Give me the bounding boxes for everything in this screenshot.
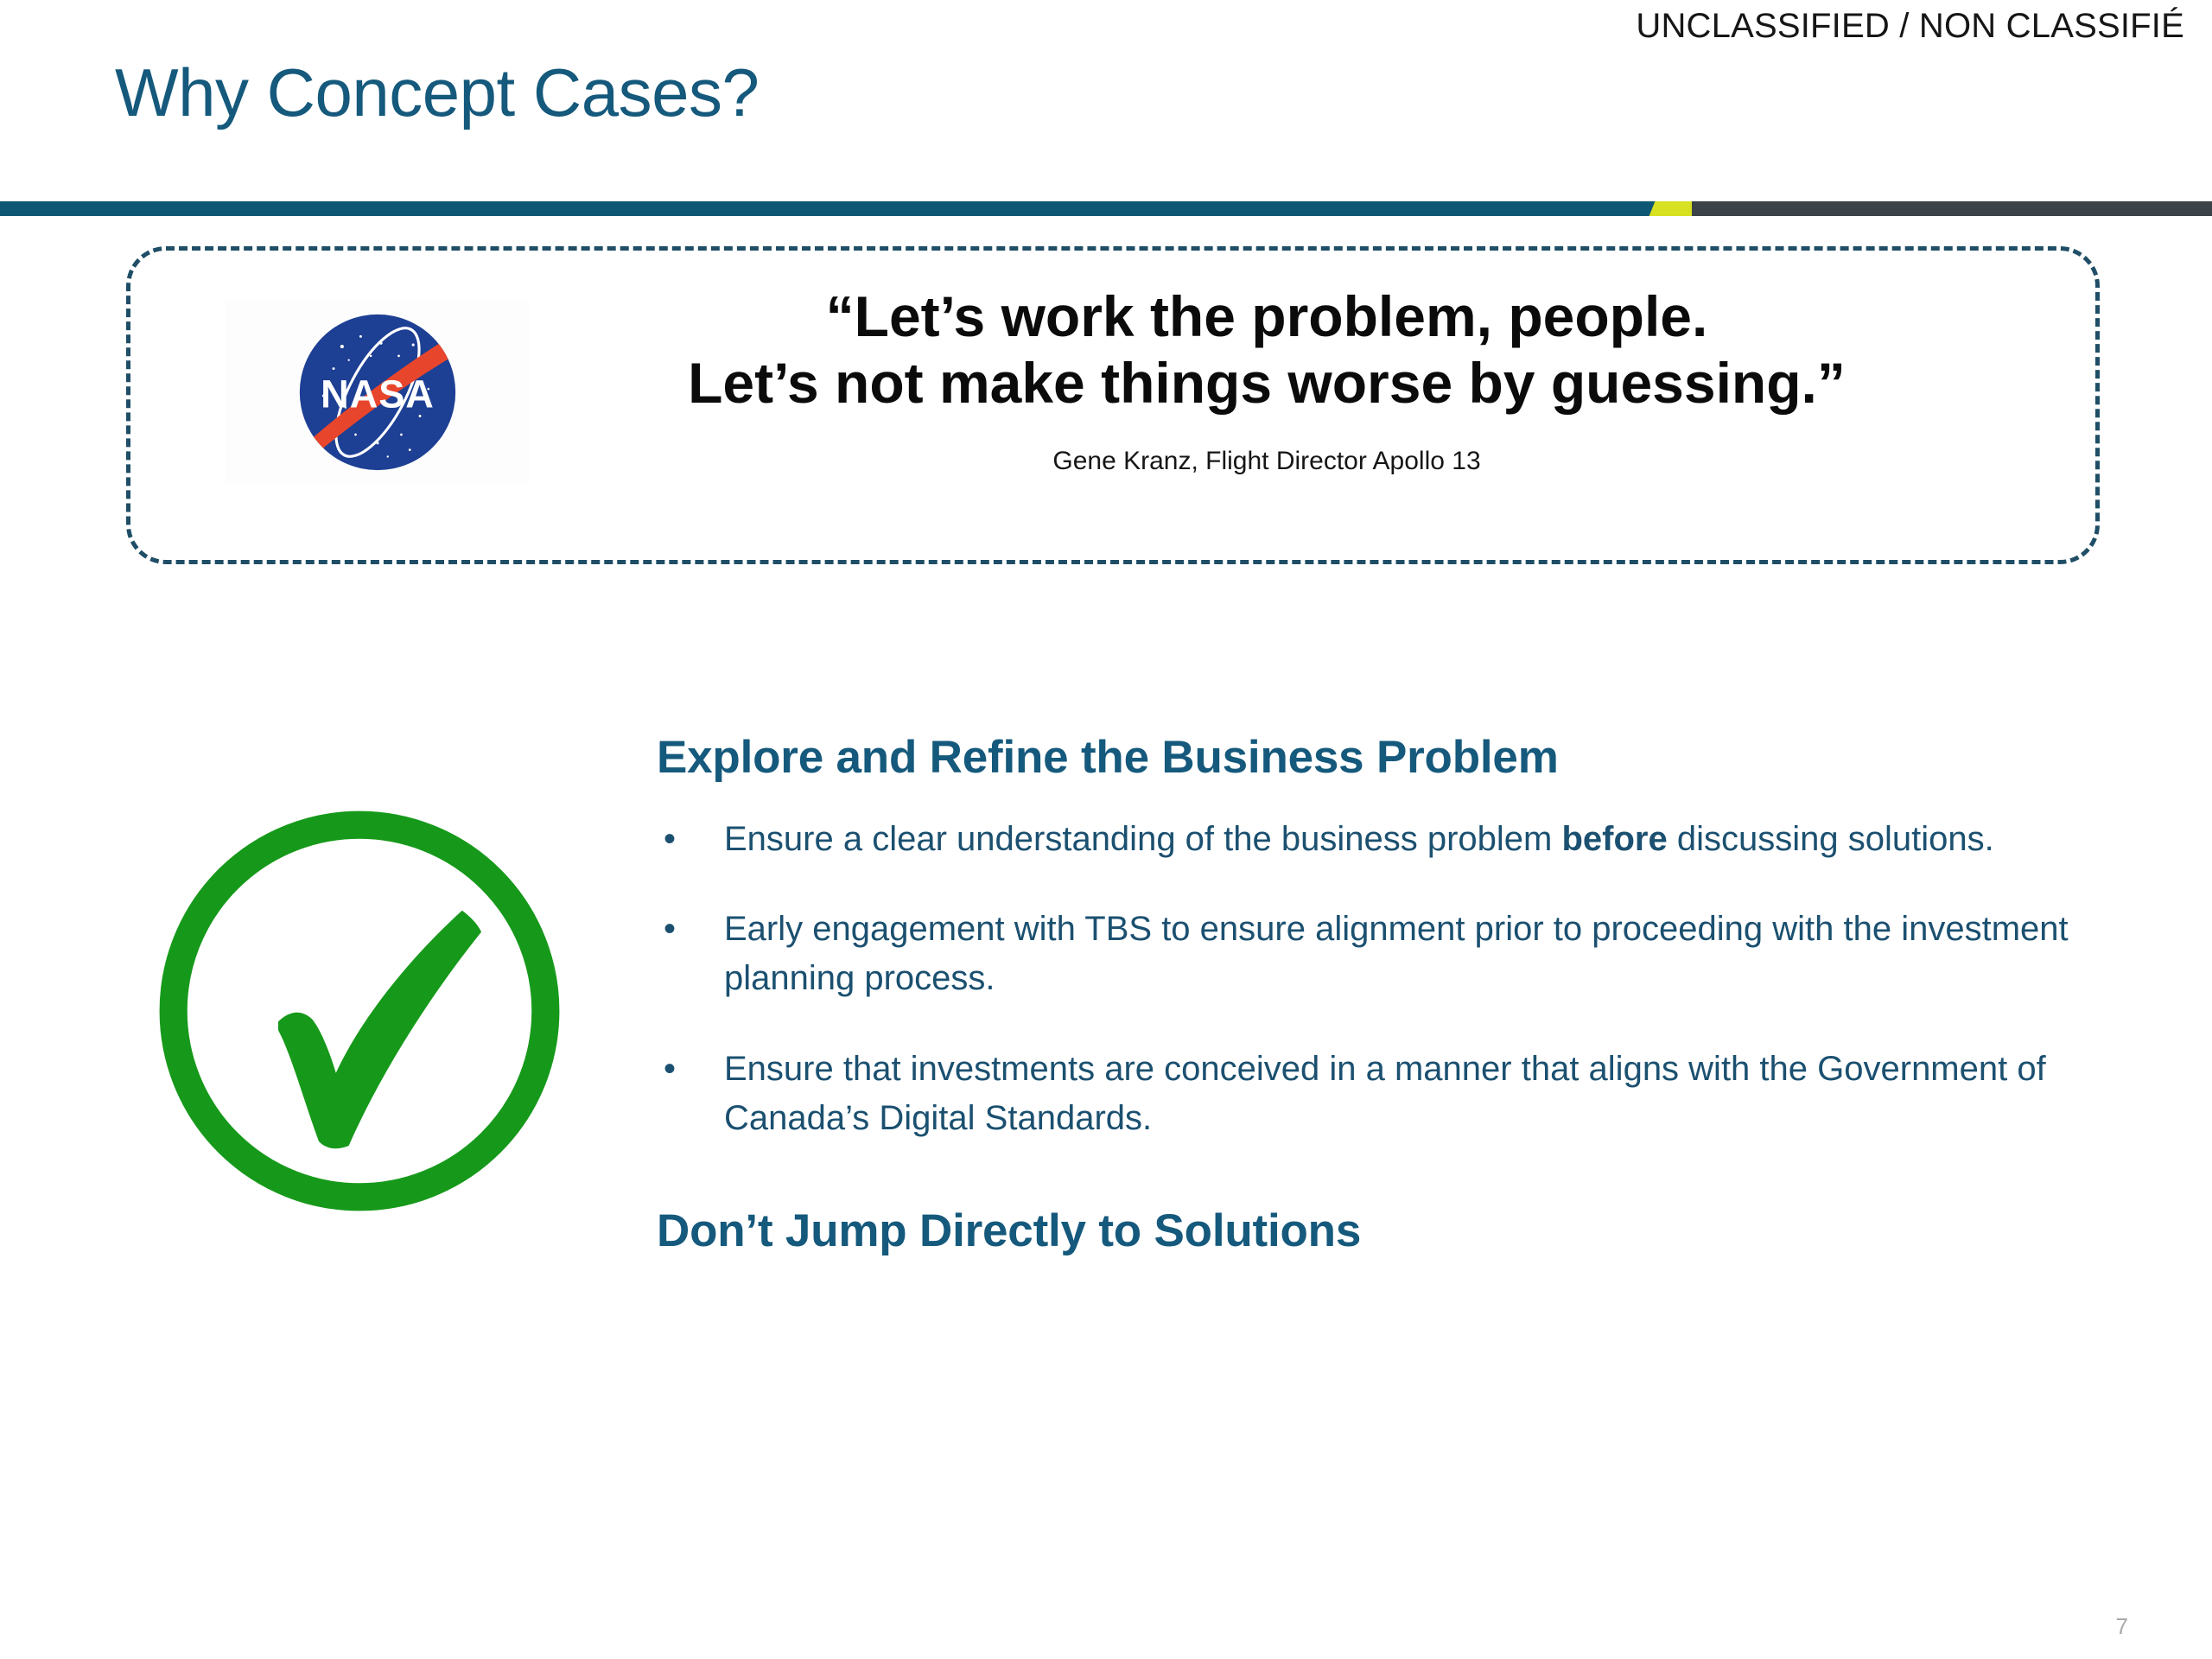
svg-text:NASA: NASA: [321, 372, 435, 416]
divider-segment-dark: [1692, 201, 2212, 216]
list-item: • Ensure a clear understanding of the bu…: [657, 815, 2074, 864]
quote-line-1: “Let’s work the problem, people.: [459, 283, 2075, 350]
bullet-marker: •: [664, 815, 676, 864]
bullet-text-pre: Ensure a clear understanding of the busi…: [724, 820, 1561, 858]
content-block: Explore and Refine the Business Problem …: [657, 730, 2074, 1258]
bullet-marker: •: [664, 905, 676, 954]
list-item: • Ensure that investments are conceived …: [657, 1045, 2074, 1143]
bullet-text-strong: before: [1561, 820, 1667, 858]
section-heading-dont-jump: Don’t Jump Directly to Solutions: [657, 1204, 2074, 1259]
quote-line-2: Let’s not make things worse by guessing.…: [459, 350, 2075, 416]
page-title: Why Concept Cases?: [115, 54, 759, 132]
divider-bar: [0, 201, 2212, 216]
classification-banner: UNCLASSIFIED / NON CLASSIFIÉ: [1636, 7, 2184, 46]
quote-attribution: Gene Kranz, Flight Director Apollo 13: [459, 447, 2075, 476]
section-heading-explore: Explore and Refine the Business Problem: [657, 730, 2074, 785]
bullet-list: • Ensure a clear understanding of the bu…: [657, 815, 2074, 1143]
nasa-logo-icon: NASA: [293, 308, 462, 477]
page-number: 7: [2116, 1613, 2128, 1640]
bullet-marker: •: [664, 1045, 676, 1094]
slide: UNCLASSIFIED / NON CLASSIFIÉ Why Concept…: [0, 0, 2212, 1659]
quote-text-block: “Let’s work the problem, people. Let’s n…: [459, 283, 2075, 476]
quote-callout-box: NASA “Let’s work the problem, people. Le…: [126, 246, 2100, 564]
divider-segment-blue: [0, 201, 1668, 216]
bullet-text-pre: Ensure that investments are conceived in…: [724, 1050, 2046, 1137]
bullet-text-post: discussing solutions.: [1668, 820, 1994, 858]
bullet-text-pre: Early engagement with TBS to ensure alig…: [724, 910, 2069, 997]
green-check-circle-icon: [138, 799, 581, 1227]
list-item: • Early engagement with TBS to ensure al…: [657, 905, 2074, 1003]
